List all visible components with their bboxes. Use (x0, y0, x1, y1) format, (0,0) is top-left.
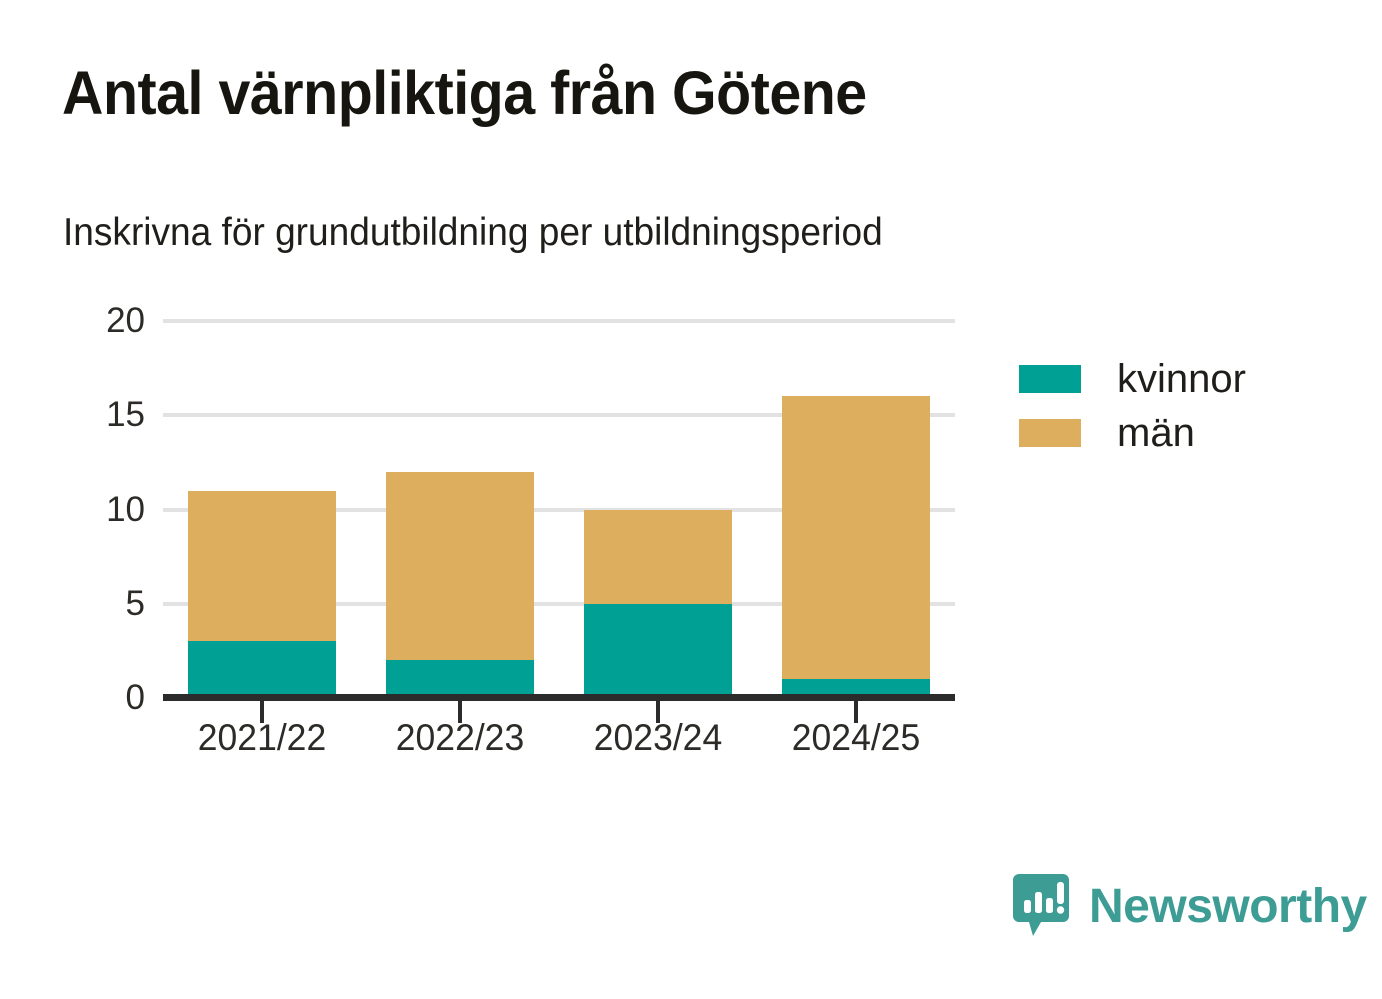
legend-item[interactable]: kvinnor (1019, 352, 1246, 406)
bar-segment-män[interactable] (386, 472, 534, 661)
y-axis: 05101520 (0, 0, 145, 999)
legend-swatch-kvinnor (1019, 365, 1081, 393)
y-axis-tick-label: 10 (35, 490, 145, 530)
x-axis-tick-label: 2022/23 (396, 717, 524, 759)
x-axis-line (163, 694, 955, 701)
newsworthy-logo: Newsworthy (1011, 872, 1367, 942)
bar-segment-kvinnor[interactable] (386, 660, 534, 698)
bar-stack[interactable] (584, 321, 732, 698)
chart-legend: kvinnormän (1019, 352, 1246, 460)
y-axis-tick-label: 5 (35, 584, 145, 624)
legend-item[interactable]: män (1019, 406, 1246, 460)
newsworthy-wordmark: Newsworthy (1089, 883, 1367, 931)
newsworthy-bar-chart-bubble-icon (1011, 872, 1071, 942)
bar-segment-män[interactable] (584, 510, 732, 604)
legend-label: kvinnor (1117, 359, 1246, 399)
bar-segment-kvinnor[interactable] (188, 641, 336, 698)
y-axis-tick-label: 20 (35, 301, 145, 341)
legend-swatch-män (1019, 419, 1081, 447)
bar-segment-män[interactable] (782, 396, 930, 679)
x-axis-tick-label: 2024/25 (792, 717, 920, 759)
x-axis-tick-label: 2021/22 (198, 717, 326, 759)
bar-stack[interactable] (188, 321, 336, 698)
bar-segment-män[interactable] (188, 491, 336, 642)
bar-stack[interactable] (782, 321, 930, 698)
bar-segment-kvinnor[interactable] (584, 604, 732, 698)
x-axis-tick-label: 2023/24 (594, 717, 722, 759)
plot-area (163, 321, 955, 698)
chart-plot: 05101520 2021/222022/232023/242024/25 (0, 0, 1382, 999)
legend-label: män (1117, 413, 1195, 453)
y-axis-tick-label: 15 (35, 395, 145, 435)
bar-stack[interactable] (386, 321, 534, 698)
y-axis-tick-label: 0 (35, 678, 145, 718)
